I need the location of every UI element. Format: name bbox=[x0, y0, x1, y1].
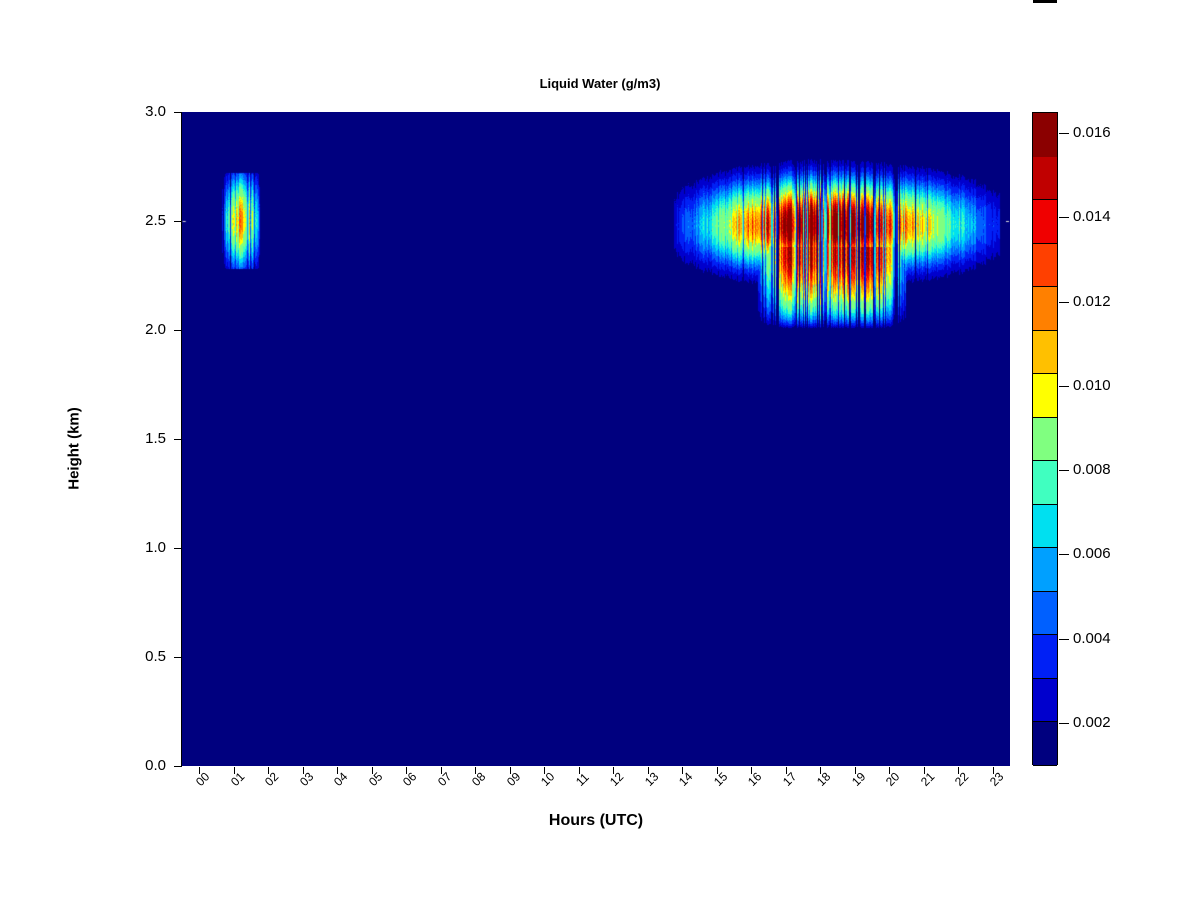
x-axis-tick-label: 15 bbox=[711, 770, 730, 789]
x-axis-tick-label: 22 bbox=[952, 770, 971, 789]
y-axis-tick-label: 1.5 bbox=[106, 430, 166, 447]
page-title: Liquid Water (g/m3) bbox=[0, 76, 1200, 91]
x-axis-tick-label: 02 bbox=[262, 770, 281, 789]
colorbar-tick bbox=[1059, 723, 1069, 724]
colorbar-band bbox=[1033, 331, 1057, 375]
colorbar-band bbox=[1033, 635, 1057, 679]
heatmap-plot-area bbox=[182, 112, 1010, 766]
y-axis-tick bbox=[174, 221, 181, 222]
colorbar-band bbox=[1033, 374, 1057, 418]
y-axis-tick-label: 3.0 bbox=[106, 103, 166, 120]
x-axis-tick-label: 18 bbox=[814, 770, 833, 789]
x-axis-tick-label: 07 bbox=[435, 770, 454, 789]
y-axis-tick bbox=[174, 330, 181, 331]
figure-canvas: Liquid Water (g/m3) 0.00.51.01.52.02.53.… bbox=[0, 0, 1200, 900]
colorbar-tick-label: 0.004 bbox=[1073, 630, 1111, 647]
y-axis-tick bbox=[174, 766, 181, 767]
x-axis-tick-label: 04 bbox=[331, 770, 350, 789]
colorbar-tick-label: 0.012 bbox=[1073, 293, 1111, 310]
colorbar-band bbox=[1033, 592, 1057, 636]
heatmap-canvas bbox=[182, 112, 1010, 766]
x-axis-tick-label: 00 bbox=[193, 770, 212, 789]
colorbar-band bbox=[1033, 244, 1057, 288]
x-axis-tick-label: 11 bbox=[573, 770, 592, 789]
colorbar-tick-label: 0.016 bbox=[1073, 124, 1111, 141]
colorbar-band bbox=[1033, 287, 1057, 331]
x-axis-tick-label: 06 bbox=[400, 770, 419, 789]
colorbar-band bbox=[1033, 722, 1057, 766]
x-axis-tick-label: 16 bbox=[745, 770, 764, 789]
x-axis-tick-label: 01 bbox=[228, 770, 247, 789]
x-axis-tick-label: 08 bbox=[469, 770, 488, 789]
colorbar bbox=[1032, 112, 1058, 765]
colorbar-band bbox=[1033, 157, 1057, 201]
colorbar-tick bbox=[1059, 217, 1069, 218]
colorbar-band bbox=[1033, 548, 1057, 592]
y-axis-tick-label: 2.0 bbox=[106, 321, 166, 338]
y-axis-tick-label: 0.5 bbox=[106, 648, 166, 665]
colorbar-tick-label: 0.008 bbox=[1073, 461, 1111, 478]
x-axis-tick-label: 19 bbox=[849, 770, 868, 789]
colorbar-band bbox=[1033, 461, 1057, 505]
y-axis-tick bbox=[174, 548, 181, 549]
colorbar-tick-label: 0.002 bbox=[1073, 714, 1111, 731]
y-axis-tick bbox=[174, 439, 181, 440]
colorbar-band bbox=[1033, 418, 1057, 462]
colorbar-band bbox=[1033, 679, 1057, 723]
colorbar-tick bbox=[1059, 470, 1069, 471]
colorbar-tick bbox=[1059, 133, 1069, 134]
y-axis-tick-label: 1.0 bbox=[106, 539, 166, 556]
x-axis-tick-label: 20 bbox=[883, 770, 902, 789]
y-axis-tick-label: 0.0 bbox=[106, 757, 166, 774]
x-axis-tick-label: 23 bbox=[987, 770, 1006, 789]
x-axis-tick-label: 09 bbox=[504, 770, 523, 789]
x-axis-title: Hours (UTC) bbox=[182, 812, 1010, 830]
colorbar-tick-label: 0.006 bbox=[1073, 545, 1111, 562]
colorbar-band bbox=[1033, 113, 1057, 157]
x-axis-tick-label: 03 bbox=[297, 770, 316, 789]
x-axis-tick-label: 17 bbox=[780, 770, 799, 789]
corner-mark bbox=[1033, 0, 1057, 3]
x-axis-tick-label: 21 bbox=[918, 770, 937, 789]
x-axis-tick-label: 13 bbox=[642, 770, 661, 789]
colorbar-band bbox=[1033, 200, 1057, 244]
y-axis-tick-label: 2.5 bbox=[106, 212, 166, 229]
colorbar-band bbox=[1033, 505, 1057, 549]
y-axis-tick bbox=[174, 112, 181, 113]
y-axis-tick bbox=[174, 657, 181, 658]
colorbar-tick bbox=[1059, 639, 1069, 640]
colorbar-tick bbox=[1059, 302, 1069, 303]
y-axis-title: Height (km) bbox=[66, 369, 83, 529]
colorbar-tick-label: 0.014 bbox=[1073, 208, 1111, 225]
colorbar-tick bbox=[1059, 386, 1069, 387]
x-axis-tick-label: 05 bbox=[366, 770, 385, 789]
x-axis-tick-label: 10 bbox=[538, 770, 557, 789]
x-axis-tick-label: 14 bbox=[676, 770, 695, 789]
y-axis-line bbox=[181, 112, 182, 767]
x-axis-tick-label: 12 bbox=[607, 770, 626, 789]
colorbar-tick-label: 0.010 bbox=[1073, 377, 1111, 394]
colorbar-tick bbox=[1059, 554, 1069, 555]
